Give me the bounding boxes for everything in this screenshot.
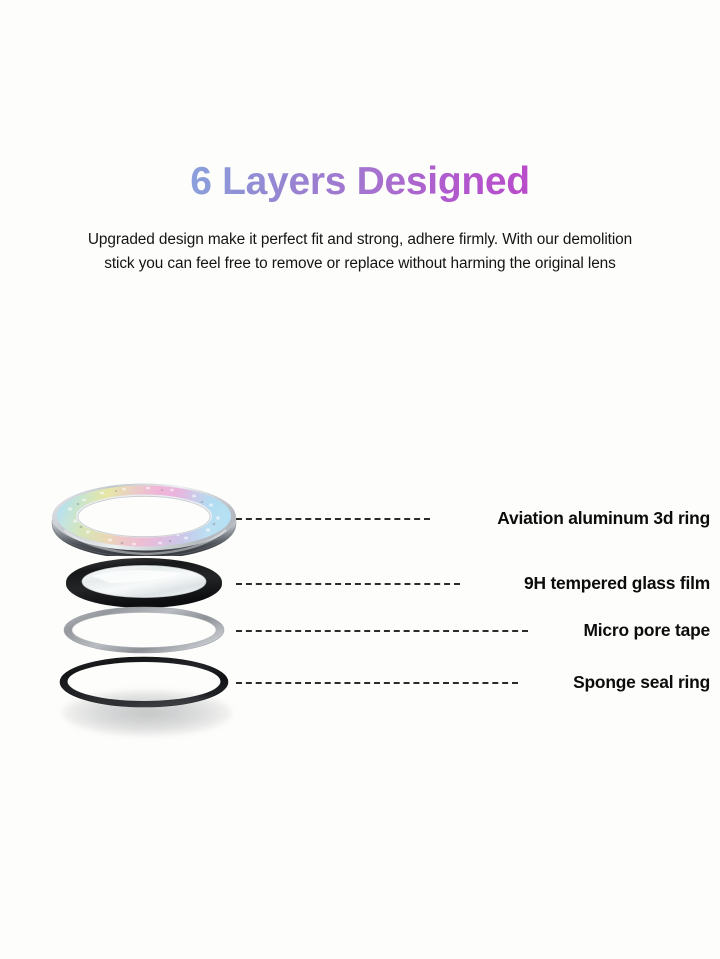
layer-label-sponge-seal-ring: Sponge seal ring	[573, 672, 710, 692]
tempered-glass-film-icon	[64, 556, 224, 610]
subtitle-line-1: Upgraded design make it perfect fit and …	[8, 228, 712, 252]
aviation-aluminum-3d-ring-icon	[50, 478, 238, 556]
diagram-drop-shadow	[62, 690, 232, 736]
layer-row-9h-tempered-glass-film: 9H tempered glass film	[0, 556, 720, 612]
subtitle-text: Upgraded design make it perfect fit and …	[8, 228, 712, 276]
layer-label-9h-tempered-glass-film: 9H tempered glass film	[524, 573, 710, 593]
leader-line-9h-tempered-glass-film	[236, 583, 460, 585]
leader-line-micro-pore-tape	[236, 630, 528, 632]
layer-row-micro-pore-tape: Micro pore tape	[0, 605, 720, 657]
subtitle-line-2: stick you can feel free to remove or rep…	[8, 252, 712, 276]
micro-pore-tape-icon	[62, 605, 226, 655]
page-title: 6 Layers Designed	[0, 158, 720, 206]
layer-label-aviation-aluminum-3d-ring: Aviation aluminum 3d ring	[497, 508, 710, 528]
layer-label-micro-pore-tape: Micro pore tape	[584, 620, 711, 640]
leader-line-aviation-aluminum-3d-ring	[236, 518, 430, 520]
layer-row-aviation-aluminum-3d-ring: Aviation aluminum 3d ring	[0, 470, 720, 560]
leader-line-sponge-seal-ring	[236, 682, 518, 684]
